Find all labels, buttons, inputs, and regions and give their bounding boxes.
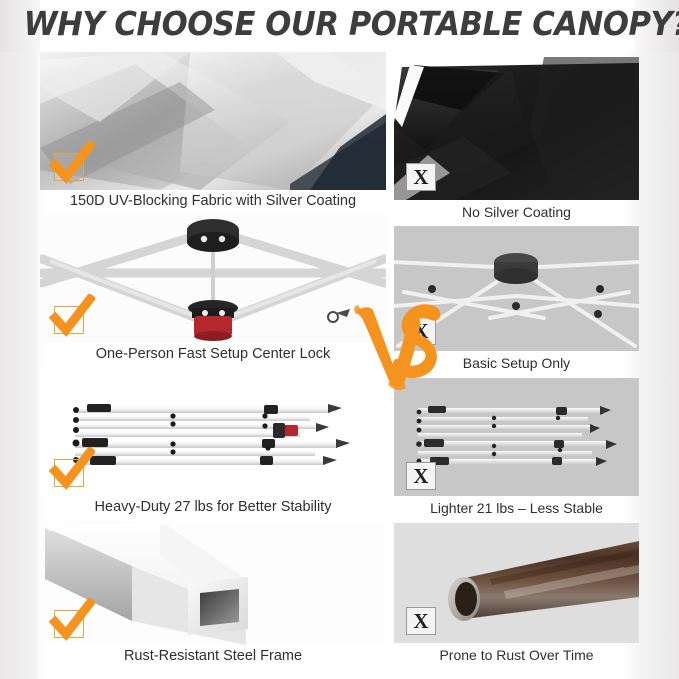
con-caption-4: Prone to Rust Over Time [394, 643, 639, 668]
con-row-3: X Lighter 21 lbs – Less Stable [394, 378, 639, 521]
versus-divider [352, 296, 444, 396]
con-image-4: X [394, 523, 639, 643]
white-square-steel-tube-photo [40, 521, 386, 645]
pro-caption-3: Heavy-Duty 27 lbs for Better Stability [40, 496, 386, 518]
con-image-1: X [394, 57, 639, 200]
pro-image-2 [40, 215, 386, 343]
title-band: WHY CHOOSE OUR PORTABLE CANOPY? [0, 0, 679, 52]
silver-fabric-illustration [40, 52, 386, 190]
check-mark-icon [54, 306, 84, 334]
pro-caption-4: Rust-Resistant Steel Frame [40, 645, 386, 667]
page-title: WHY CHOOSE OUR PORTABLE CANOPY? [24, 4, 655, 43]
check-mark-icon [54, 153, 84, 181]
check-mark-icon [54, 610, 84, 638]
x-mark-icon: X [406, 163, 436, 191]
pro-image-1 [40, 52, 386, 190]
pro-row-1: 150D UV-Blocking Fabric with Silver Coat… [40, 52, 386, 212]
pro-caption-1: 150D UV-Blocking Fabric with Silver Coat… [40, 190, 386, 212]
pro-row-4: Rust-Resistant Steel Frame [40, 521, 386, 667]
pro-image-4 [40, 521, 386, 645]
silver-coated-fabric-photo [40, 52, 386, 190]
x-mark-icon: X [406, 607, 436, 635]
pro-column: 150D UV-Blocking Fabric with Silver Coat… [40, 52, 386, 667]
check-mark-icon [54, 459, 84, 487]
canopy-comparison-infographic: WHY CHOOSE OUR PORTABLE CANOPY? [0, 0, 679, 679]
con-caption-3: Lighter 21 lbs – Less Stable [394, 496, 639, 521]
versus-brush-text [352, 296, 444, 396]
x-mark-glyph: X [413, 466, 428, 487]
con-caption-1: No Silver Coating [394, 200, 639, 224]
pro-row-3: Heavy-Duty 27 lbs for Better Stability [40, 368, 386, 518]
pro-caption-2: One-Person Fast Setup Center Lock [40, 343, 386, 365]
con-row-1: X No Silver Coating [394, 57, 639, 224]
folded-heavy-frame-photo [40, 368, 386, 496]
pro-image-3 [40, 368, 386, 496]
con-row-4: X Prone to Rust Over Time [394, 523, 639, 668]
canopy-frame-center-lock-photo [40, 215, 386, 343]
x-mark-glyph: X [413, 167, 428, 188]
x-mark-glyph: X [413, 611, 428, 632]
x-mark-icon: X [406, 462, 436, 490]
pro-row-2: One-Person Fast Setup Center Lock [40, 215, 386, 365]
